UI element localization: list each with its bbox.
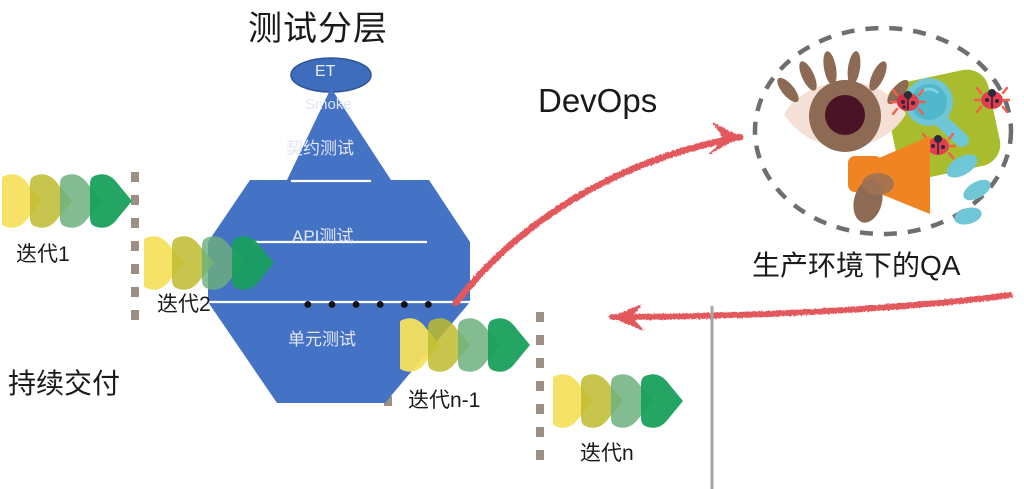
production-qa-illustration [740,18,1024,250]
iteration-label-2: 迭代2 [157,294,211,315]
pyramid-cap-label: ET [315,63,335,81]
red-arrow-left-icon [590,285,1020,345]
diagram-canvas: 测试分层 ET Smoke 契约测试 API测试 ● ● ● ● ● ● 单元测… [0,0,1024,489]
iteration-label-n: 迭代n [580,443,634,464]
chevron-cluster-icon [144,230,284,292]
chevron-cluster-icon [553,368,693,430]
iteration-label-1: 迭代1 [16,244,70,265]
production-qa-label: 生产环境下的QA [752,252,960,280]
chevron-cluster-icon [2,168,142,230]
pyramid-layer-contract: 契约测试 [286,140,354,157]
pyramid-layer-smoke: Smoke [305,97,352,112]
pyramid-layer-unit: 单元测试 [288,331,356,348]
continuous-delivery-label: 持续交付 [8,370,120,398]
megaphone-icon [848,136,930,226]
vertical-rule-icon [705,306,719,489]
iteration-label-n-1: 迭代n-1 [408,390,480,411]
pyramid-layer-api: API测试 [292,228,353,245]
